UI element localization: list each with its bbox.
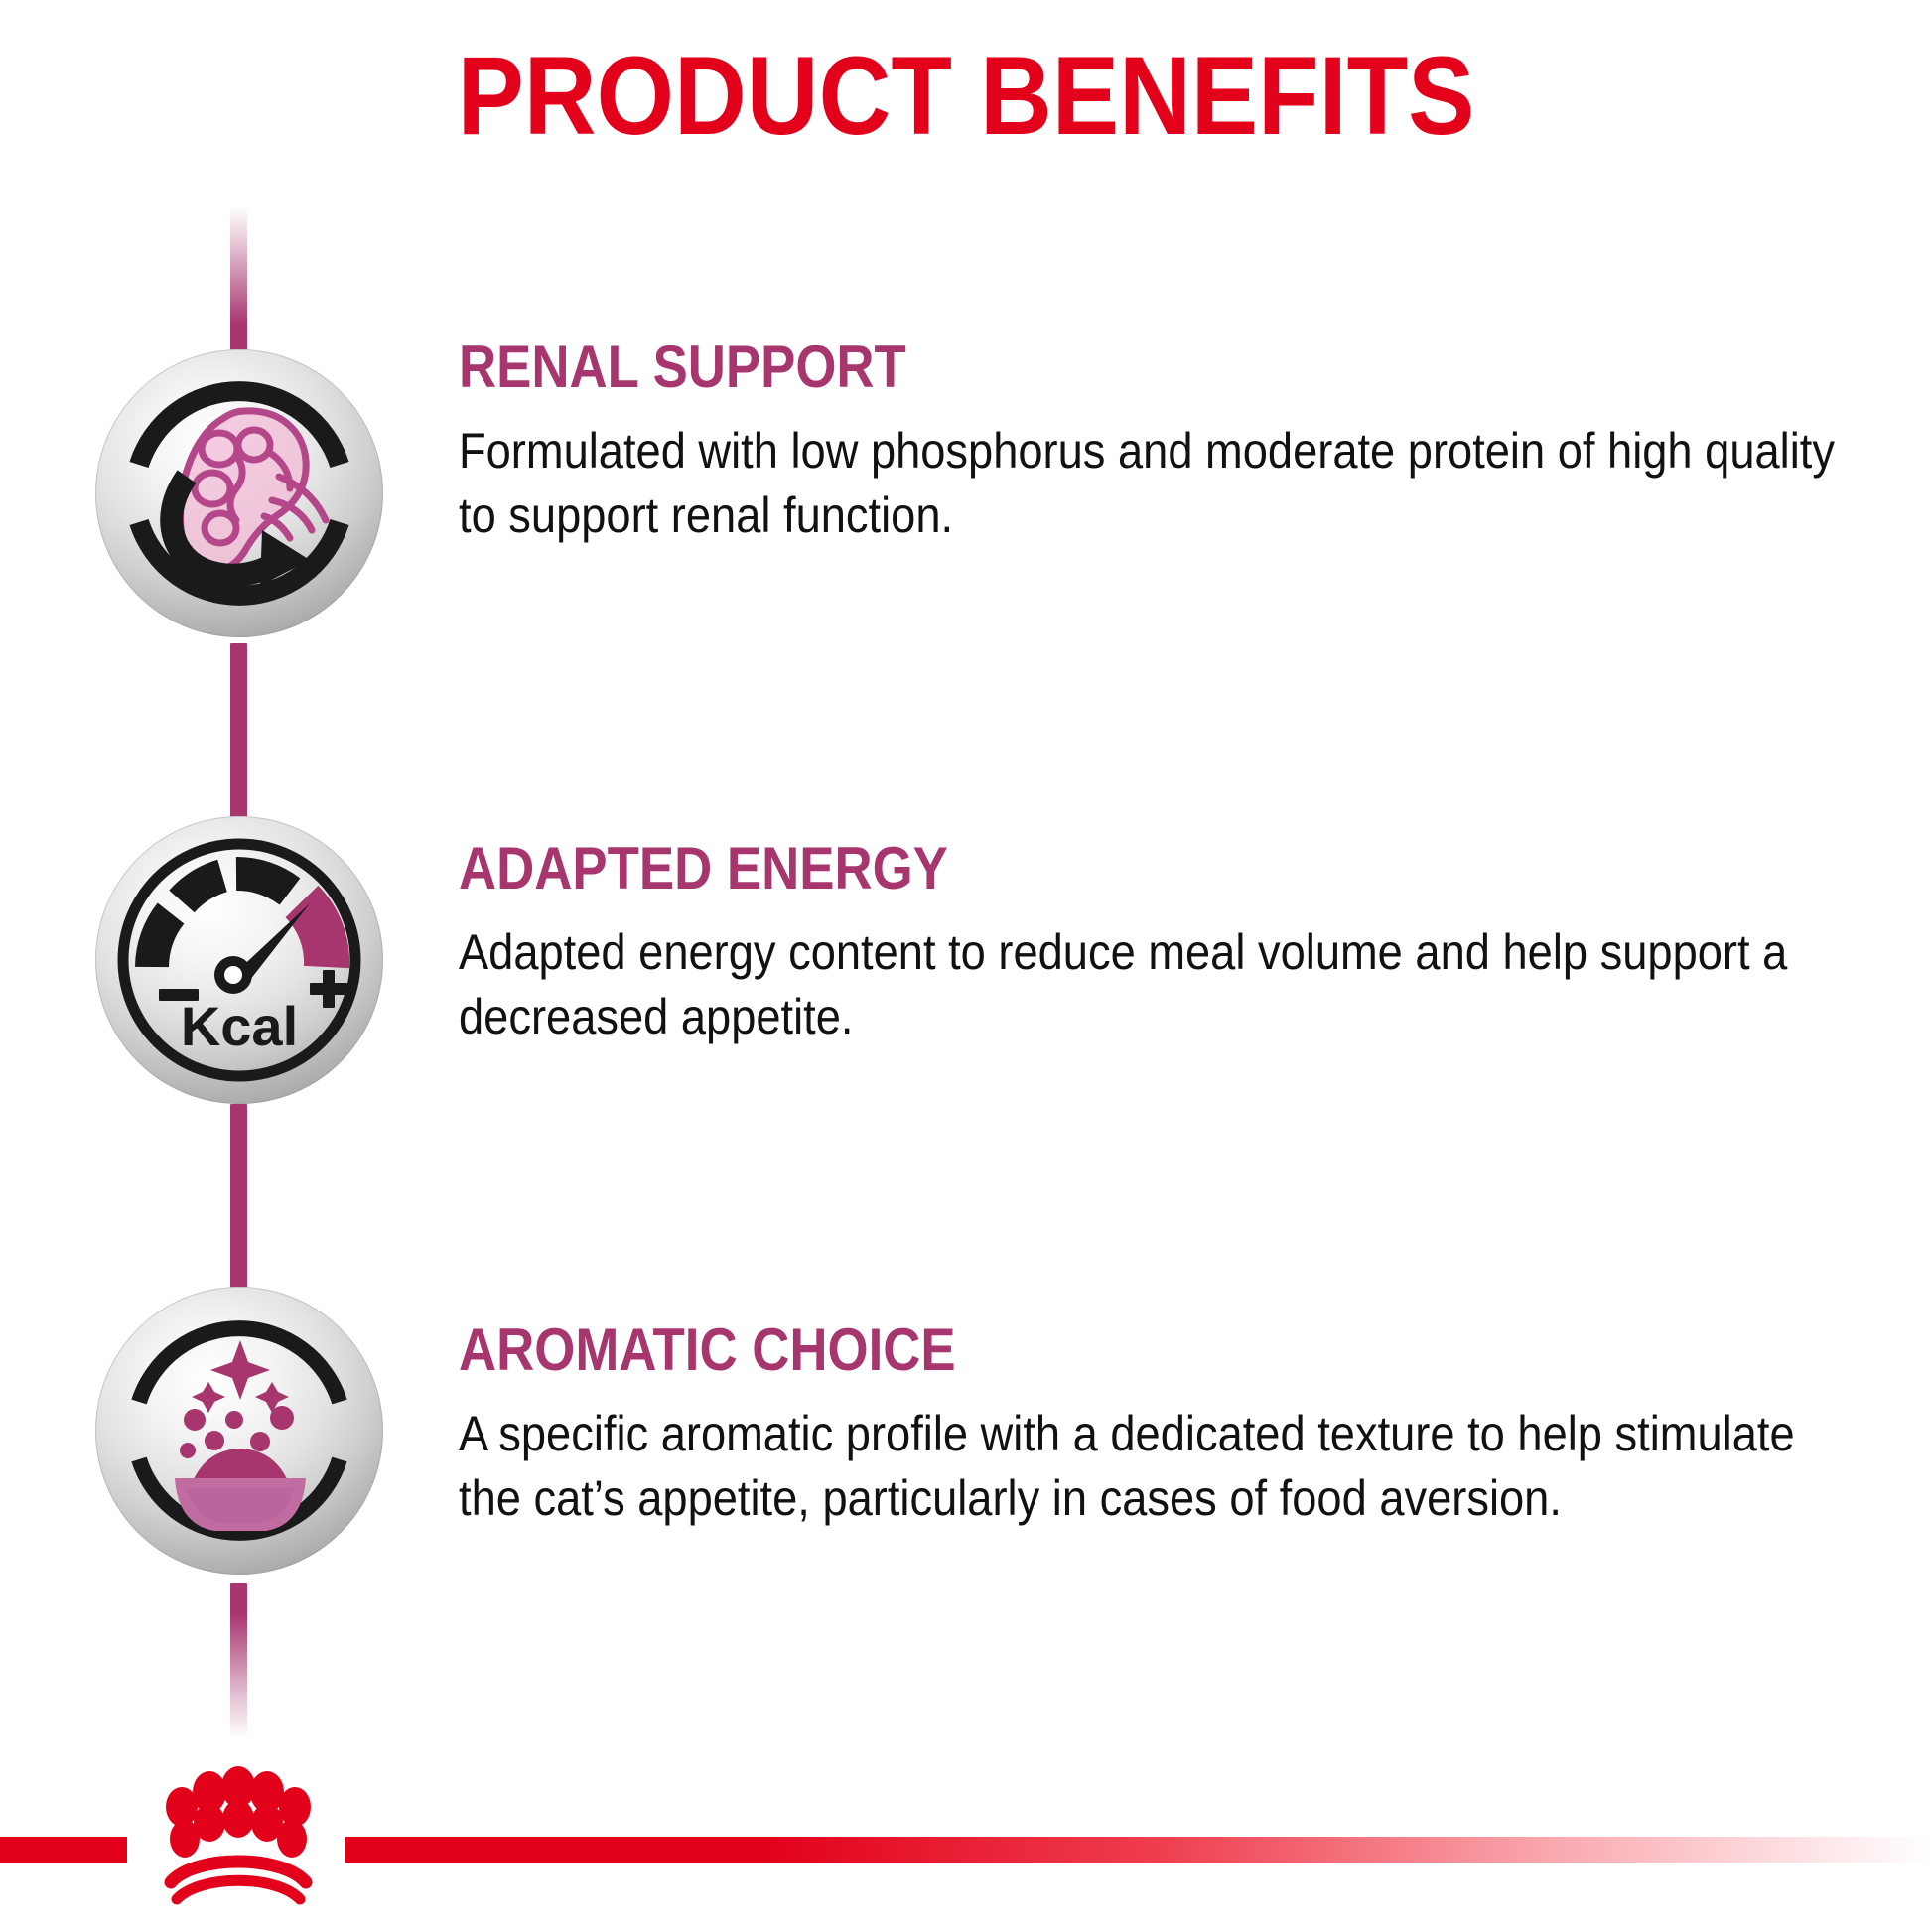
footer (0, 1737, 1932, 1932)
benefit-body-renal-support: Formulated with low phosphorus and moder… (459, 419, 1861, 548)
benefit-title-aromatic-choice: AROMATIC CHOICE (459, 1320, 1682, 1380)
benefit-body-adapted-energy: Adapted energy content to reduce meal vo… (459, 920, 1861, 1049)
kcal-energy-gauge-icon: Kcal (95, 816, 383, 1104)
aromatic-food-bowl-icon (95, 1287, 383, 1575)
timeline-rail-segment-2 (230, 1104, 247, 1307)
footer-bar-right (345, 1837, 1932, 1863)
benefit-body-aromatic-choice: A specific aromatic profile with a dedic… (459, 1402, 1861, 1531)
kidney-renal-cycle-icon (95, 349, 383, 637)
timeline-rail-top (230, 207, 247, 357)
benefit-item-adapted-energy: ADAPTED ENERGY Adapted energy content to… (459, 839, 1849, 1049)
timeline-rail-segment-1 (230, 643, 247, 840)
footer-bar-left (0, 1837, 127, 1863)
gauge-kcal-label: Kcal (181, 995, 298, 1057)
royal-canin-crown-paw-logo (127, 1759, 345, 1908)
benefit-item-renal-support: RENAL SUPPORT Formulated with low phosph… (459, 338, 1849, 548)
benefits-timeline: Kcal (0, 0, 467, 1747)
benefit-item-aromatic-choice: AROMATIC CHOICE A specific aromatic prof… (459, 1320, 1849, 1531)
benefit-title-adapted-energy: ADAPTED ENERGY (459, 839, 1682, 898)
timeline-rail-bottom (230, 1583, 247, 1739)
benefit-title-renal-support: RENAL SUPPORT (459, 338, 1682, 397)
